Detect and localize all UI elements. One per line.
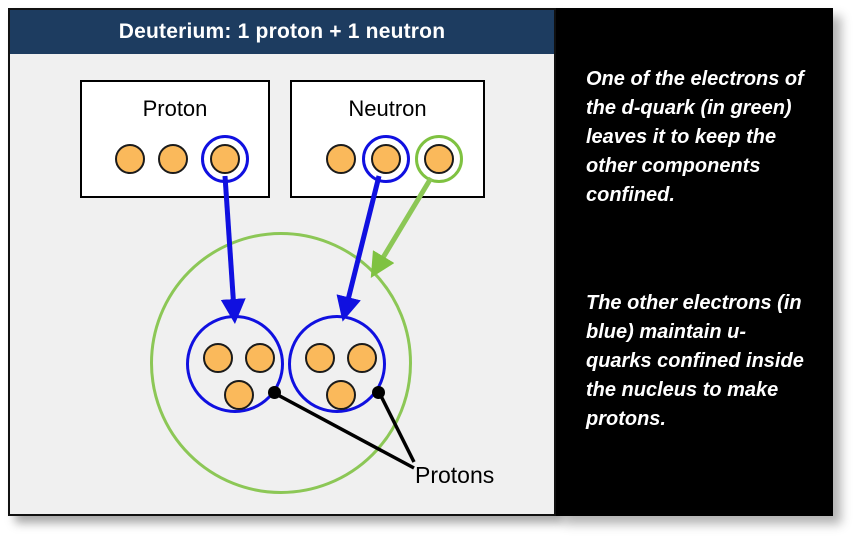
neutron-quark-3-green-electron-shell-icon — [415, 135, 463, 183]
protons-callout-label: Protons — [415, 462, 494, 489]
proton-box: Proton — [80, 80, 270, 198]
slide-canvas: Deuterium: 1 proton + 1 neutron Proton N… — [0, 0, 863, 548]
proton-box-label: Proton — [82, 96, 268, 122]
notes-panel: One of the electrons of the d-quark (in … — [556, 8, 833, 516]
nucleus-left-quark-2 — [245, 343, 275, 373]
neutron-quark-1 — [326, 144, 356, 174]
note-paragraph-2: The other electrons (in blue) maintain u… — [586, 289, 811, 434]
leader-dot-right — [372, 386, 385, 399]
diagram-panel: Deuterium: 1 proton + 1 neutron Proton N… — [8, 8, 556, 516]
nucleus-left-quark-1 — [203, 343, 233, 373]
proton-quark-1 — [115, 144, 145, 174]
leader-dot-left — [268, 386, 281, 399]
proton-quark-3-blue-electron-shell-icon — [201, 135, 249, 183]
neutron-box-label: Neutron — [292, 96, 483, 122]
nucleus-right-quark-2 — [347, 343, 377, 373]
proton-quark-2 — [158, 144, 188, 174]
title-bar: Deuterium: 1 proton + 1 neutron — [10, 10, 554, 54]
page-title: Deuterium: 1 proton + 1 neutron — [10, 10, 554, 54]
nucleus-left-quark-3 — [224, 380, 254, 410]
neutron-quark-2-blue-electron-shell-icon — [362, 135, 410, 183]
nucleus-right-quark-1 — [305, 343, 335, 373]
nucleus-right-quark-3 — [326, 380, 356, 410]
note-paragraph-1: One of the electrons of the d-quark (in … — [586, 65, 811, 210]
